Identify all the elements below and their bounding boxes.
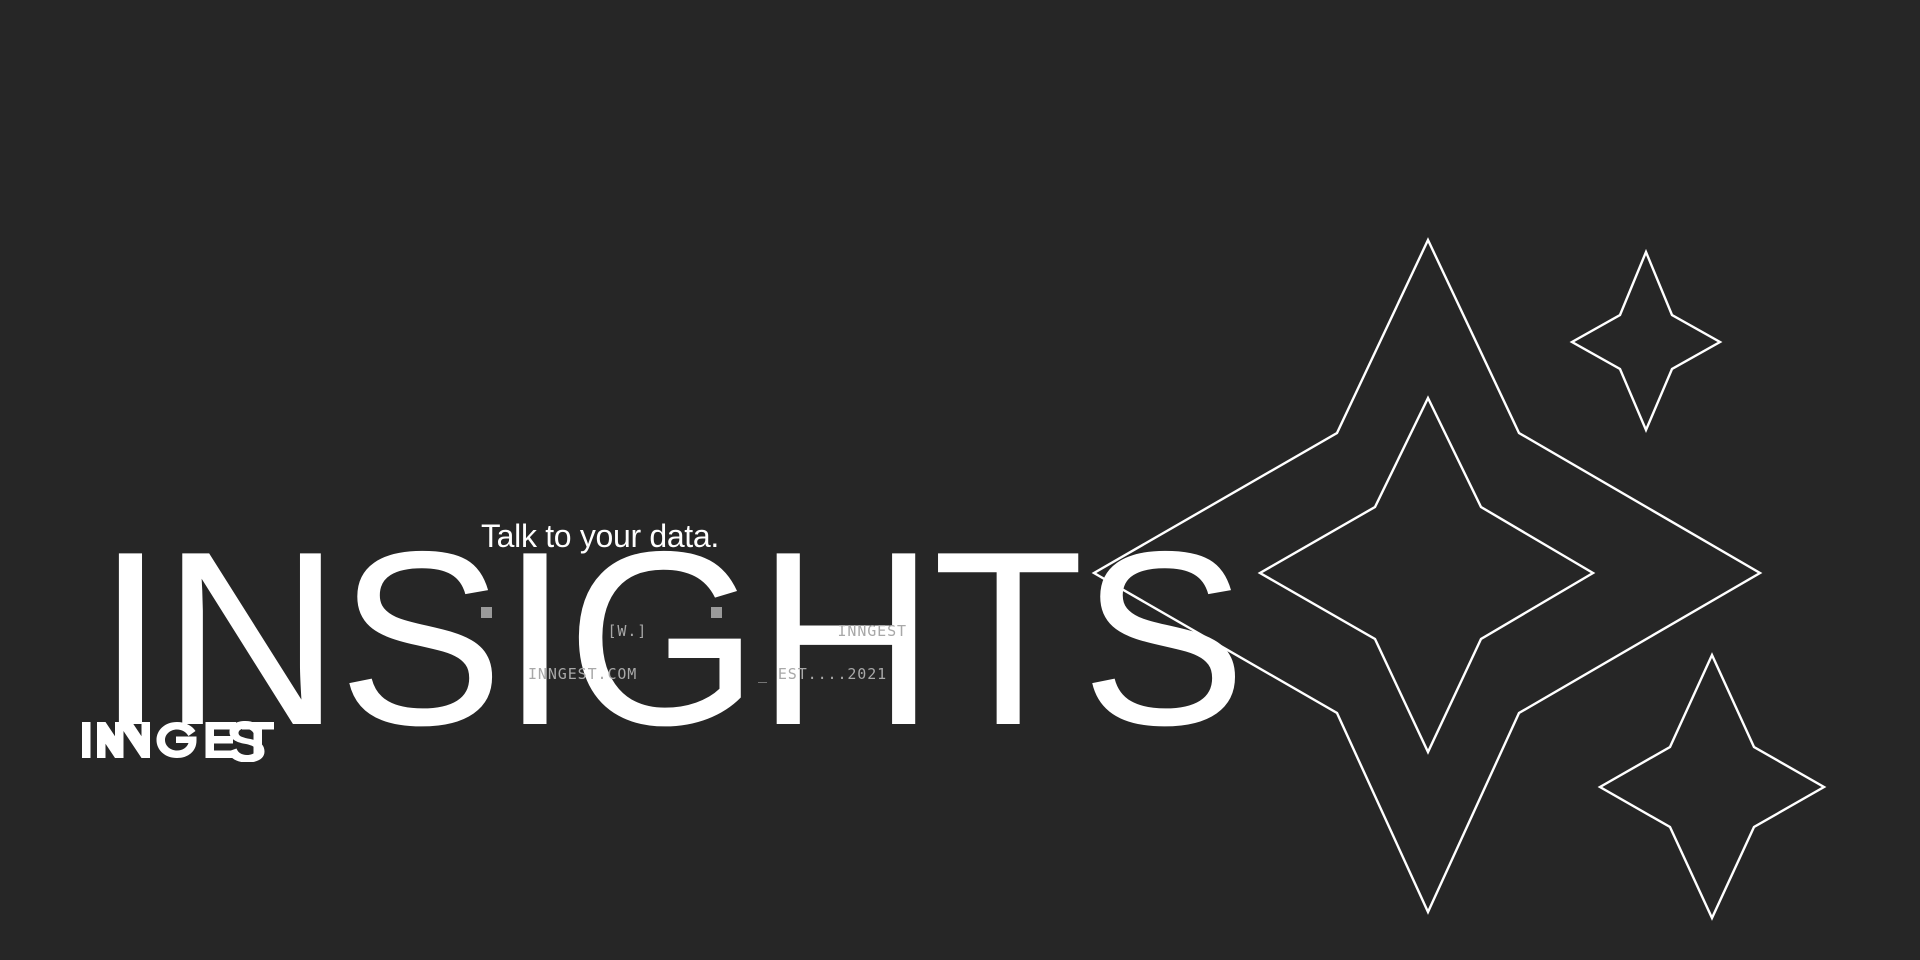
meta-row: [W.] INNGEST.COM INNGEST _ EST....2021 bbox=[481, 600, 941, 728]
inngest-wordmark-icon bbox=[82, 718, 274, 762]
meta-company-line-2: _ EST....2021 bbox=[758, 664, 907, 685]
meta-website-line-2: INNGEST.COM bbox=[528, 664, 647, 685]
tagline: Talk to your data. bbox=[481, 518, 719, 555]
meta-company-line-1: INNGEST bbox=[837, 622, 907, 640]
four-point-star-small-top-right-icon bbox=[1572, 252, 1720, 430]
meta-item-website: [W.] INNGEST.COM bbox=[481, 600, 711, 728]
square-bullet-icon bbox=[481, 607, 492, 618]
four-point-star-small-bottom-right-icon bbox=[1600, 655, 1824, 918]
poster-canvas: INSIGHTS AI Talk to your data. [W.] INNG… bbox=[0, 0, 1920, 960]
square-bullet-icon bbox=[711, 607, 722, 618]
meta-item-company: INNGEST _ EST....2021 bbox=[711, 600, 941, 728]
meta-text-website: [W.] INNGEST.COM bbox=[528, 600, 647, 728]
inngest-logo bbox=[82, 718, 274, 767]
meta-text-company: INNGEST _ EST....2021 bbox=[758, 600, 907, 728]
meta-website-line-1: [W.] bbox=[607, 622, 647, 640]
page-title: INSIGHTS AI bbox=[96, 62, 1496, 960]
